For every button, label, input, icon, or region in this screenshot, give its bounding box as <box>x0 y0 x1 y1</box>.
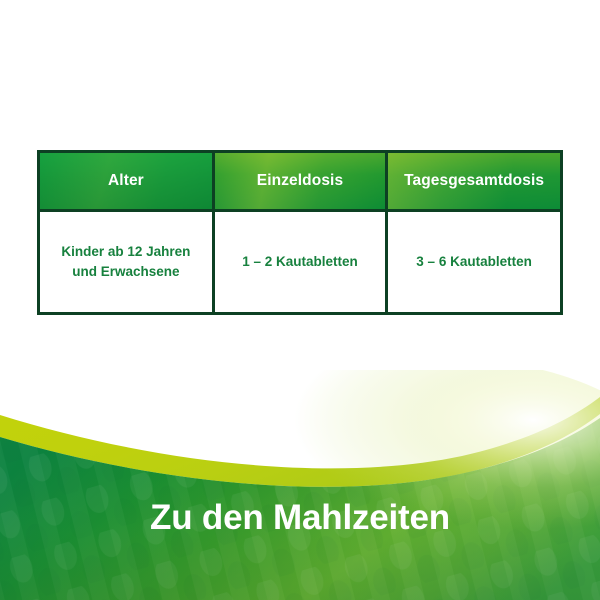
cell-tagesgesamtdosis: 3 – 6 Kautabletten <box>387 210 560 312</box>
column-header-einzeldosis: Einzeldosis <box>213 153 386 210</box>
banner-title: Zu den Mahlzeiten <box>0 498 600 538</box>
column-header-tagesgesamtdosis-label: Tagesgesamtdosis <box>388 172 560 190</box>
dosage-table-body: Kinder ab 12 Jahren und Erwachsene 1 – 2… <box>40 210 560 312</box>
cell-alter: Kinder ab 12 Jahren und Erwachsene <box>40 210 213 312</box>
column-header-alter-label: Alter <box>40 172 212 190</box>
page-root: Alter Einzeldosis Tagesgesamtdosis Kinde <box>0 0 600 600</box>
column-header-alter: Alter <box>40 153 213 210</box>
wave-banner-graphic <box>0 370 600 600</box>
wave-banner <box>0 370 600 600</box>
column-header-tagesgesamtdosis: Tagesgesamtdosis <box>387 153 560 210</box>
dosage-table-head: Alter Einzeldosis Tagesgesamtdosis <box>40 153 560 210</box>
table-header-row: Alter Einzeldosis Tagesgesamtdosis <box>40 153 560 210</box>
column-header-einzeldosis-label: Einzeldosis <box>215 172 385 190</box>
cell-alter-line-1: Kinder ab 12 Jahren <box>40 242 212 262</box>
dosage-table-grid: Alter Einzeldosis Tagesgesamtdosis Kinde <box>40 153 560 312</box>
dosage-table: Alter Einzeldosis Tagesgesamtdosis Kinde <box>37 150 563 315</box>
cell-einzeldosis: 1 – 2 Kautabletten <box>213 210 386 312</box>
cell-alter-line-2: und Erwachsene <box>40 262 212 282</box>
table-row: Kinder ab 12 Jahren und Erwachsene 1 – 2… <box>40 210 560 312</box>
